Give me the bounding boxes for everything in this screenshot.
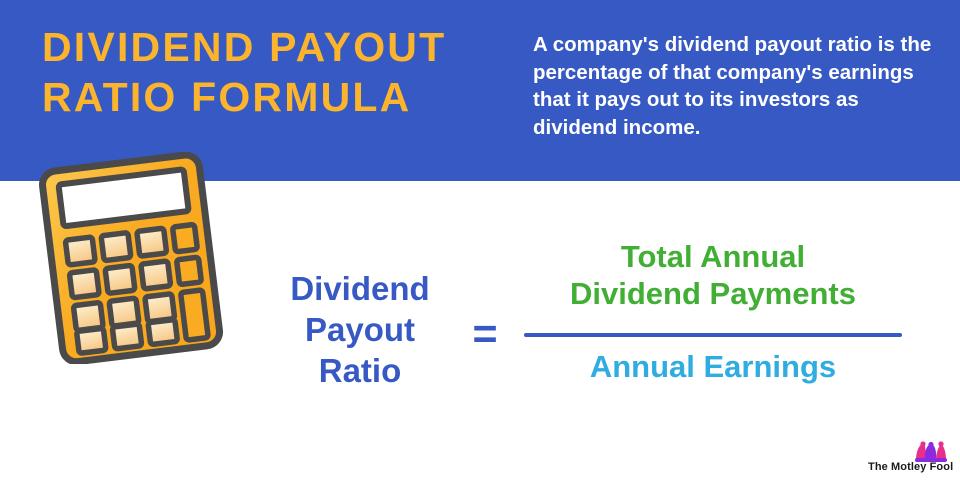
- fraction-numerator-line-2: Dividend Payments: [518, 275, 908, 312]
- infographic-canvas: Dividend Payout Ratio Formula A company'…: [0, 0, 960, 480]
- page-title: Dividend Payout Ratio Formula: [42, 22, 512, 122]
- formula-left-label-line-3: Ratio: [260, 350, 460, 391]
- fraction-bar: [524, 333, 902, 337]
- formula-left-label-line-2: Payout: [260, 309, 460, 350]
- page-title-line-2: Ratio Formula: [42, 72, 512, 122]
- fraction: Total Annual Dividend Payments Annual Ea…: [518, 230, 908, 395]
- brand-logo: The Motley Fool: [868, 441, 952, 473]
- calculator-equals-key: [181, 290, 209, 340]
- fraction-numerator: Total Annual Dividend Payments: [518, 238, 908, 312]
- brand-logo-text: The Motley Fool: [868, 461, 952, 473]
- formula-left-label-line-1: Dividend: [260, 268, 460, 309]
- page-title-line-1: Dividend Payout: [42, 22, 512, 72]
- header-description: A company's dividend payout ratio is the…: [533, 31, 935, 141]
- fraction-denominator: Annual Earnings: [518, 348, 908, 385]
- calculator-illustration: [34, 152, 234, 364]
- equals-sign: =: [465, 313, 505, 356]
- fraction-numerator-line-1: Total Annual: [518, 238, 908, 275]
- formula-left-label: Dividend Payout Ratio: [260, 268, 460, 391]
- formula-area: Dividend Payout Ratio = Total Annual Div…: [240, 230, 940, 410]
